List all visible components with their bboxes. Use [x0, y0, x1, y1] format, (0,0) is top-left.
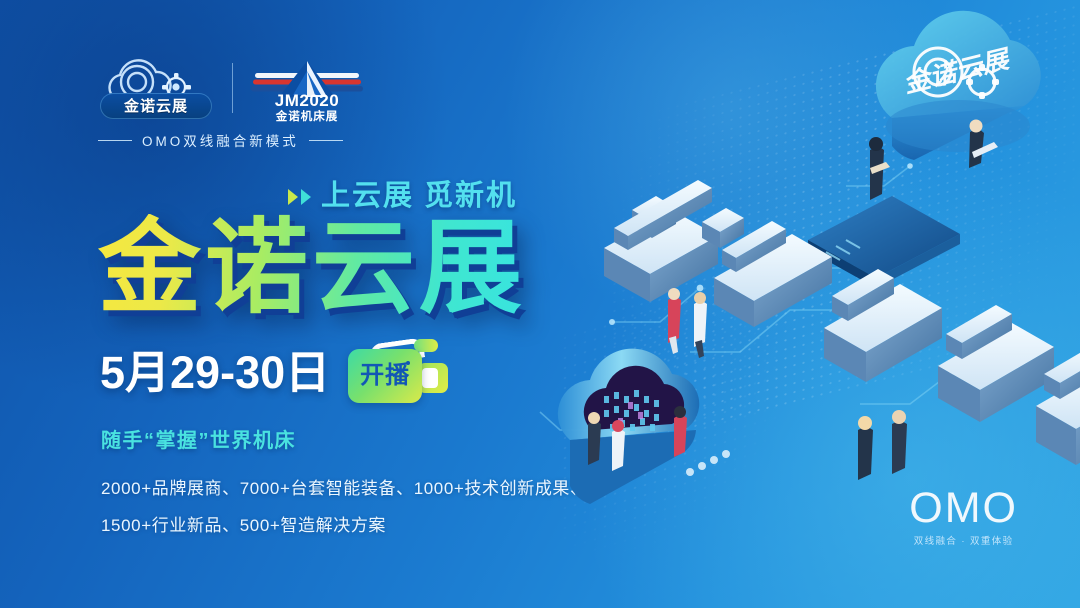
- promo-banner: 金诺云展 JM2020 金诺机床展: [0, 0, 1080, 608]
- cloud-logo-badge: 金诺云展: [100, 93, 212, 119]
- double-arrow-icon: [288, 189, 311, 205]
- jm-logo-text: JM2020: [249, 92, 365, 109]
- logo-divider: [232, 63, 233, 113]
- cloud-booth-lower: [558, 349, 730, 504]
- omo-title: OMO: [909, 487, 1018, 530]
- jinnuo-cloud-logo[interactable]: 金诺云展: [96, 55, 218, 121]
- isometric-illustration: 金诺云展: [540, 0, 1080, 608]
- cloud-logo-text: 金诺云展: [124, 99, 188, 114]
- omo-logo: OMO 双线融合 · 双重体验: [909, 487, 1018, 547]
- tagline-dash-left: [98, 140, 132, 141]
- jm2020-logo[interactable]: JM2020 金诺机床展: [249, 53, 365, 123]
- live-broadcast-badge[interactable]: 开播: [348, 341, 452, 403]
- header-tagline: OMO双线融合新模式: [98, 130, 396, 150]
- description-line: 2000+品牌展商、7000+台套智能装备、1000+技术创新成果、: [101, 470, 588, 507]
- hero-slogan: 随手“掌握”世界机床: [101, 431, 296, 451]
- live-badge-text: 开播: [360, 364, 410, 388]
- logo-row: 金诺云展 JM2020 金诺机床展: [96, 52, 396, 124]
- header: 金诺云展 JM2020 金诺机床展: [96, 52, 396, 150]
- hero-description: 2000+品牌展商、7000+台套智能装备、1000+技术创新成果、 1500+…: [101, 470, 588, 544]
- camera-lens-icon: [418, 363, 448, 393]
- description-line: 1500+行业新品、500+智造解决方案: [101, 507, 588, 544]
- figure-group-right: [858, 410, 907, 480]
- camera-body-icon: 开播: [348, 349, 422, 403]
- jm-logo-subtext: 金诺机床展: [249, 112, 365, 124]
- event-date-text: 5月29-30日: [100, 350, 330, 395]
- event-date-row: 5月29-30日 开播: [100, 341, 452, 403]
- tagline-text: OMO双线融合新模式: [142, 130, 299, 150]
- hero-subheading-text: 上云展 觅新机: [321, 182, 517, 211]
- omo-subtitle: 双线融合 · 双重体验: [909, 537, 1018, 547]
- tagline-dash-right: [309, 140, 343, 141]
- camera-tip-icon: [414, 339, 438, 352]
- hero-title: 金诺云展: [98, 214, 526, 322]
- figure-group-left: [668, 288, 707, 358]
- hero-subheading: 上云展 觅新机: [288, 182, 517, 211]
- cloud-platform-upper: 金诺云展: [876, 11, 1041, 160]
- person-presenter: [869, 137, 890, 200]
